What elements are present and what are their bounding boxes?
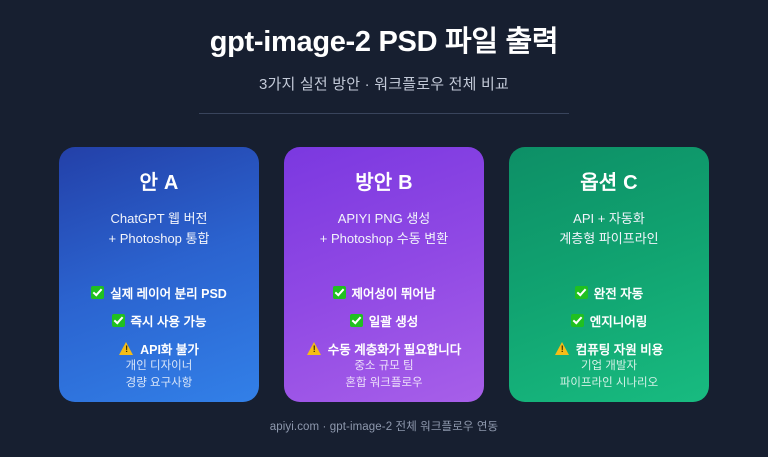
card-c-feature-1: 완전 자동 [575,283,643,302]
option-card-c[interactable]: 옵션 C API + 자동화 계층형 파이프라인 완전 자동 엔지니어링 컴퓨팅… [509,147,709,402]
card-c-footnote-line1: 기업 개발자 [560,358,658,375]
card-a-subtitle-line2: + Photoshop 통합 [109,229,210,249]
warning-icon [119,342,134,355]
card-c-subtitle: API + 자동화 계층형 파이프라인 [559,209,658,249]
card-c-feature-1-label: 완전 자동 [594,283,643,302]
option-card-a[interactable]: 안 A ChatGPT 웹 버전 + Photoshop 통합 실제 레이어 분… [59,147,259,402]
check-icon [91,286,104,299]
warning-icon [307,342,322,355]
card-c-feature-3: 컴퓨팅 자원 비용 [555,339,663,358]
card-c-feature-list: 완전 자동 엔지니어링 컴퓨팅 자원 비용 [555,283,663,358]
card-b-subtitle: APIYI PNG 생성 + Photoshop 수동 변환 [320,209,448,249]
check-icon [112,314,125,327]
card-a-feature-2-label: 즉시 사용 가능 [131,311,207,330]
card-a-feature-1-label: 실제 레이어 분리 PSD [110,283,227,302]
card-b-footnote-line2: 혼합 워크플로우 [345,375,422,392]
card-b-title: 방안 B [355,166,413,195]
card-a-subtitle-line1: ChatGPT 웹 버전 [109,209,210,229]
card-b-footnote-line1: 중소 규모 팀 [345,358,422,375]
warning-icon [555,342,570,355]
card-c-feature-3-label: 컴퓨팅 자원 비용 [576,339,663,358]
card-b-feature-3: 수동 계층화가 필요합니다 [307,339,461,358]
card-a-feature-3: API화 불가 [119,339,199,358]
card-b-feature-1: 제어성이 뛰어남 [333,283,436,302]
card-a-footnote: 개인 디자이너 경량 요구사항 [126,358,193,399]
comparison-cards: 안 A ChatGPT 웹 버전 + Photoshop 통합 실제 레이어 분… [59,147,709,402]
card-b-subtitle-line2: + Photoshop 수동 변환 [320,229,448,249]
card-b-feature-3-label: 수동 계층화가 필요합니다 [328,339,461,358]
card-b-footnote: 중소 규모 팀 혼합 워크플로우 [345,358,422,399]
card-c-subtitle-line2: 계층형 파이프라인 [559,229,658,249]
card-b-feature-1-label: 제어성이 뛰어남 [352,283,436,302]
card-a-feature-3-label: API화 불가 [140,339,199,358]
card-c-title: 옵션 C [580,166,638,195]
card-b-feature-2-label: 일괄 생성 [369,311,418,330]
infographic-page: gpt-image-2 PSD 파일 출력 3가지 실전 방안 · 워크플로우 … [0,0,768,457]
card-b-subtitle-line1: APIYI PNG 생성 [320,209,448,229]
check-icon [571,314,584,327]
check-icon [350,314,363,327]
check-icon [333,286,346,299]
page-title: gpt-image-2 PSD 파일 출력 [0,25,768,60]
card-c-feature-2-label: 엔지니어링 [590,311,648,330]
card-b-feature-2: 일괄 생성 [350,311,418,330]
card-a-feature-1: 실제 레이어 분리 PSD [91,283,227,302]
footer-attribution: apiyi.com · gpt-image-2 전체 워크플로우 연동 [270,418,498,434]
card-a-footnote-line2: 경량 요구사항 [126,375,193,392]
card-c-feature-2: 엔지니어링 [571,311,648,330]
header-divider [199,113,569,114]
card-b-feature-list: 제어성이 뛰어남 일괄 생성 수동 계층화가 필요합니다 [307,283,461,358]
card-a-feature-2: 즉시 사용 가능 [112,311,207,330]
option-card-b[interactable]: 방안 B APIYI PNG 생성 + Photoshop 수동 변환 제어성이… [284,147,484,402]
card-c-subtitle-line1: API + 자동화 [559,209,658,229]
check-icon [575,286,588,299]
card-a-feature-list: 실제 레이어 분리 PSD 즉시 사용 가능 API화 불가 [91,283,227,358]
card-a-subtitle: ChatGPT 웹 버전 + Photoshop 통합 [109,209,210,249]
header: gpt-image-2 PSD 파일 출력 3가지 실전 방안 · 워크플로우 … [0,0,768,114]
card-c-footnote: 기업 개발자 파이프라인 시나리오 [560,358,658,399]
page-subtitle: 3가지 실전 방안 · 워크플로우 전체 비교 [0,73,768,94]
card-a-title: 안 A [140,166,179,195]
card-a-footnote-line1: 개인 디자이너 [126,358,193,375]
card-c-footnote-line2: 파이프라인 시나리오 [560,375,658,392]
